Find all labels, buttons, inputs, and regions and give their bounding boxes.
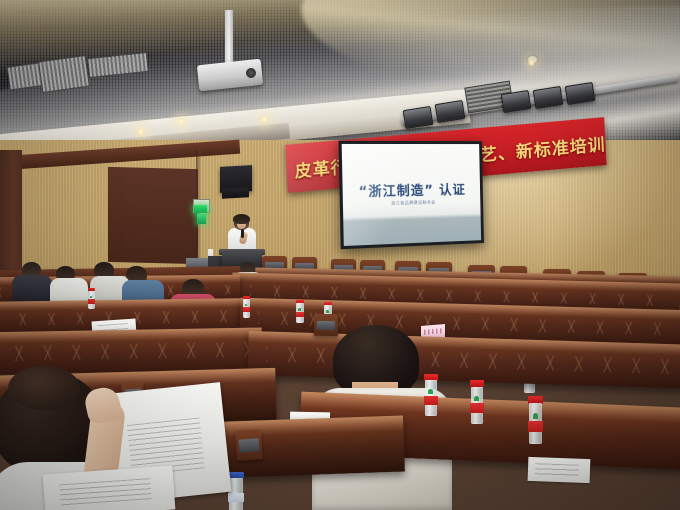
bottle-label bbox=[88, 299, 95, 304]
exit-sign-icon bbox=[197, 214, 206, 224]
handout-paper bbox=[528, 457, 591, 483]
ceiling-downlight bbox=[528, 59, 535, 66]
conference-room-photo: 皮革行业先进质 工艺、新标准培训 “浙江制造” 认证 浙江省品牌建设联合会 bbox=[0, 0, 680, 510]
wall-speaker-base bbox=[222, 187, 249, 198]
projection-screen: “浙江制造” 认证 浙江省品牌建设联合会 bbox=[338, 141, 484, 249]
microphone-icon bbox=[241, 229, 244, 238]
water-bottle bbox=[296, 300, 304, 323]
paper-text-lines bbox=[59, 478, 151, 506]
bottle-leaf-logo-icon bbox=[298, 308, 301, 311]
bottle-leaf-logo-icon bbox=[474, 396, 479, 401]
bottle-label bbox=[470, 403, 483, 413]
screen-glare bbox=[342, 144, 481, 246]
bottle-leaf-logo-icon bbox=[326, 310, 329, 313]
attendee-body bbox=[12, 275, 52, 303]
water-bottle bbox=[528, 396, 543, 444]
projection-screen-surface: “浙江制造” 认证 浙江省品牌建设联合会 bbox=[342, 144, 481, 246]
exit-sign-icon bbox=[194, 205, 207, 213]
attendee-hair-bun bbox=[8, 366, 80, 410]
ceiling-downlight bbox=[261, 116, 268, 123]
water-bottle bbox=[243, 296, 250, 318]
chair bbox=[314, 314, 338, 336]
name-card-text bbox=[424, 328, 442, 335]
bottle-label bbox=[528, 421, 542, 432]
wall-wood-panel bbox=[108, 167, 198, 264]
bottle-leaf-logo-icon bbox=[428, 389, 433, 394]
bottle-label bbox=[296, 312, 304, 317]
desk-gloss bbox=[0, 298, 248, 311]
chair bbox=[235, 429, 263, 461]
presenter-hair bbox=[233, 214, 250, 224]
bottle-label bbox=[243, 307, 250, 312]
water-bottle bbox=[424, 374, 438, 416]
bottle-leaf-logo-icon bbox=[533, 413, 538, 418]
water-bottle bbox=[470, 380, 484, 424]
desk-chevron-panel bbox=[0, 342, 251, 361]
projector-mount bbox=[225, 10, 233, 66]
handout-paper bbox=[43, 466, 176, 510]
water-bottle bbox=[88, 288, 95, 309]
ceiling-vent bbox=[38, 55, 90, 93]
paper-text-lines bbox=[535, 463, 579, 477]
bottle-label bbox=[424, 396, 437, 405]
bottle-label bbox=[228, 493, 243, 502]
bottle-cap bbox=[470, 380, 484, 387]
ceiling-downlight bbox=[178, 118, 185, 125]
ceiling-downlight bbox=[137, 128, 144, 135]
